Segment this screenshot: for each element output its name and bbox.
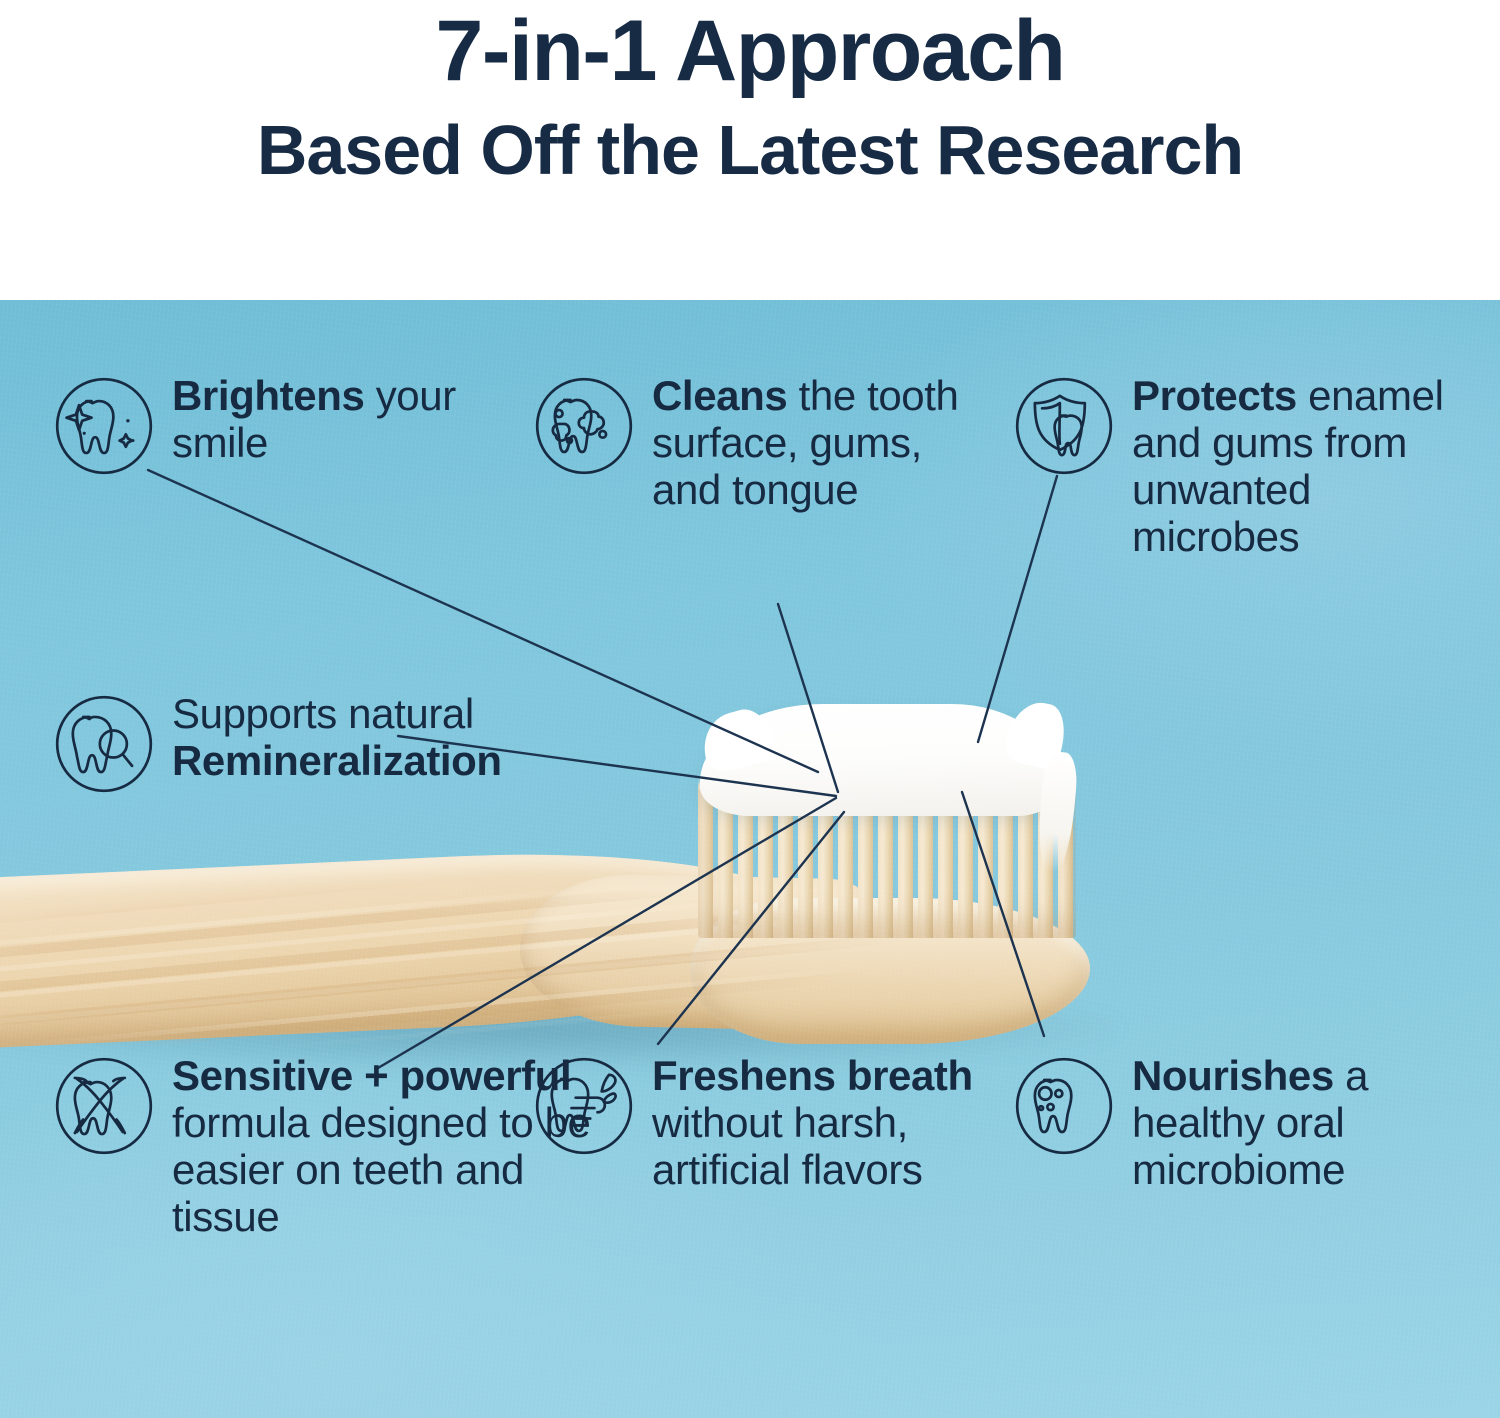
feature-brightens-text: Brightens your smile [172, 372, 482, 466]
feature-remineralization-bold: Remineralization [172, 737, 502, 784]
feature-cleans-lead: Cleans [652, 372, 787, 419]
feature-remineralization-text: Supports natural Remineralization [172, 690, 582, 784]
feature-remineralization-lead: Supports natural [172, 690, 474, 737]
feature-sensitive-rest: formula designed to be easier on teeth a… [172, 1099, 590, 1240]
feature-sensitive-lead: Sensitive + powerful [172, 1052, 571, 1099]
tooth-magnifier-icon [52, 692, 156, 796]
feature-protects-text: Protects enamel and gums from unwanted m… [1132, 372, 1482, 560]
feature-freshens-lead: Freshens breath [652, 1052, 973, 1099]
tooth-microbes-icon [1012, 1054, 1116, 1158]
feature-freshens-text: Freshens breath without harsh, artificia… [652, 1052, 1002, 1193]
tooth-bubbles-icon [532, 374, 636, 478]
feature-protects: Protects enamel and gums from unwanted m… [1012, 372, 1482, 560]
feature-brightens: Brightens your smile [52, 372, 482, 478]
tooth-crossed-icon [52, 1054, 156, 1158]
tooth-mint-breath-icon [532, 1054, 636, 1158]
page-subtitle: Based Off the Latest Research [0, 94, 1500, 188]
infographic-page: 7-in-1 Approach Based Off the Latest Res… [0, 0, 1500, 1418]
feature-cleans: Cleans the tooth surface, gums, and tong… [532, 372, 982, 513]
tooth-sparkle-icon [52, 374, 156, 478]
feature-remineralization: Supports natural Remineralization [52, 690, 582, 796]
feature-freshens: Freshens breath without harsh, artificia… [532, 1052, 1002, 1193]
page-title: 7-in-1 Approach [0, 0, 1500, 94]
shield-tooth-icon [1012, 374, 1116, 478]
feature-brightens-lead: Brightens [172, 372, 364, 419]
feature-cleans-text: Cleans the tooth surface, gums, and tong… [652, 372, 982, 513]
feature-freshens-rest: without harsh, artificial flavors [652, 1099, 923, 1193]
feature-protects-lead: Protects [1132, 372, 1297, 419]
feature-nourishes-lead: Nourishes [1132, 1052, 1334, 1099]
header: 7-in-1 Approach Based Off the Latest Res… [0, 0, 1500, 300]
feature-nourishes-text: Nourishes a healthy oral microbiome [1132, 1052, 1482, 1193]
feature-sensitive-text: Sensitive + powerful formula designed to… [172, 1052, 592, 1240]
feature-nourishes: Nourishes a healthy oral microbiome [1012, 1052, 1482, 1193]
feature-sensitive: Sensitive + powerful formula designed to… [52, 1052, 592, 1240]
